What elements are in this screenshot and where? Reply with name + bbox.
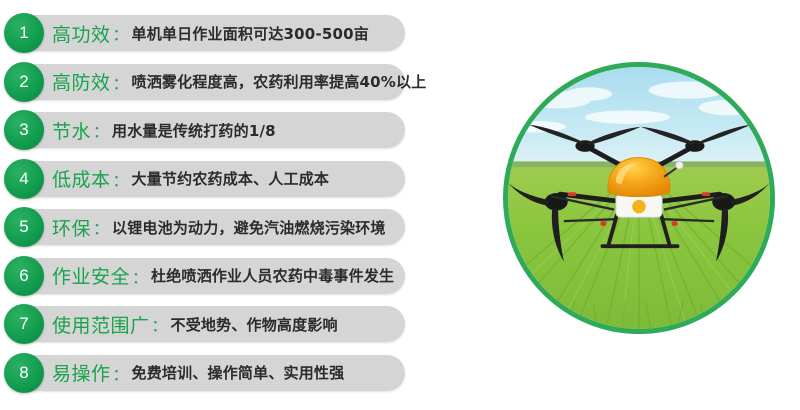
feature-number-badge: 2 (4, 62, 44, 102)
feature-title: 节水 (52, 117, 91, 144)
feature-description: 用水量是传统打药的1/8 (112, 120, 276, 141)
feature-row[interactable]: 7使用范围广：不受地势、作物高度影响 (0, 306, 420, 354)
drone-photo-circle (503, 62, 775, 334)
feature-text: 高防效：喷洒雾化程度高，农药利用率提高40%以上 (52, 64, 426, 100)
feature-row[interactable]: 4低成本：大量节约农药成本、人工成本 (0, 161, 420, 209)
feature-description: 不受地势、作物高度影响 (171, 314, 338, 335)
drone-field-illustration (508, 67, 770, 329)
feature-text: 高功效：单机单日作业面积可达300-500亩 (52, 15, 369, 51)
feature-number-badge: 5 (4, 207, 44, 247)
feature-row[interactable]: 1高功效：单机单日作业面积可达300-500亩 (0, 15, 420, 63)
feature-number-badge: 6 (4, 256, 44, 296)
feature-separator: ： (130, 264, 151, 288)
feature-number-badge: 7 (4, 304, 44, 344)
feature-text: 使用范围广：不受地势、作物高度影响 (52, 306, 338, 342)
feature-separator: ： (91, 118, 112, 142)
feature-separator: ： (111, 167, 132, 191)
feature-separator: ： (91, 215, 112, 239)
feature-description: 大量节约农药成本、人工成本 (132, 168, 330, 189)
feature-title: 高功效 (52, 20, 111, 47)
feature-number-badge: 4 (4, 159, 44, 199)
feature-text: 低成本：大量节约农药成本、人工成本 (52, 161, 329, 197)
feature-separator: ： (111, 70, 132, 94)
feature-title: 高防效 (52, 68, 111, 95)
feature-description: 免费培训、操作简单、实用性强 (132, 362, 345, 383)
feature-number-badge: 1 (4, 13, 44, 53)
feature-row[interactable]: 5环保：以锂电池为动力，避免汽油燃烧污染环境 (0, 209, 420, 257)
feature-title: 易操作 (52, 359, 111, 386)
feature-separator: ： (111, 361, 132, 385)
feature-text: 作业安全：杜绝喷洒作业人员农药中毒事件发生 (52, 258, 394, 294)
feature-title: 环保 (52, 214, 91, 241)
feature-title: 作业安全 (52, 262, 130, 289)
feature-text: 环保：以锂电池为动力，避免汽油燃烧污染环境 (52, 209, 386, 245)
feature-description: 杜绝喷洒作业人员农药中毒事件发生 (151, 265, 394, 286)
feature-description: 单机单日作业面积可达300-500亩 (132, 23, 369, 44)
feature-row[interactable]: 8易操作：免费培训、操作简单、实用性强 (0, 355, 420, 403)
feature-text: 节水：用水量是传统打药的1/8 (52, 112, 276, 148)
feature-row[interactable]: 6作业安全：杜绝喷洒作业人员农药中毒事件发生 (0, 258, 420, 306)
feature-title: 低成本 (52, 165, 111, 192)
feature-row[interactable]: 2高防效：喷洒雾化程度高，农药利用率提高40%以上 (0, 64, 420, 112)
feature-text: 易操作：免费培训、操作简单、实用性强 (52, 355, 344, 391)
feature-row[interactable]: 3节水：用水量是传统打药的1/8 (0, 112, 420, 160)
feature-separator: ： (150, 312, 171, 336)
feature-separator: ： (111, 21, 132, 45)
feature-description: 喷洒雾化程度高，农药利用率提高40%以上 (132, 71, 427, 92)
feature-title: 使用范围广 (52, 311, 150, 338)
tank-cap (632, 200, 645, 213)
feature-description: 以锂电池为动力，避免汽油燃烧污染环境 (112, 217, 386, 238)
feature-number-badge: 3 (4, 110, 44, 150)
feature-list: 1高功效：单机单日作业面积可达300-500亩2高防效：喷洒雾化程度高，农药利用… (0, 0, 420, 410)
feature-number-badge: 8 (4, 353, 44, 393)
